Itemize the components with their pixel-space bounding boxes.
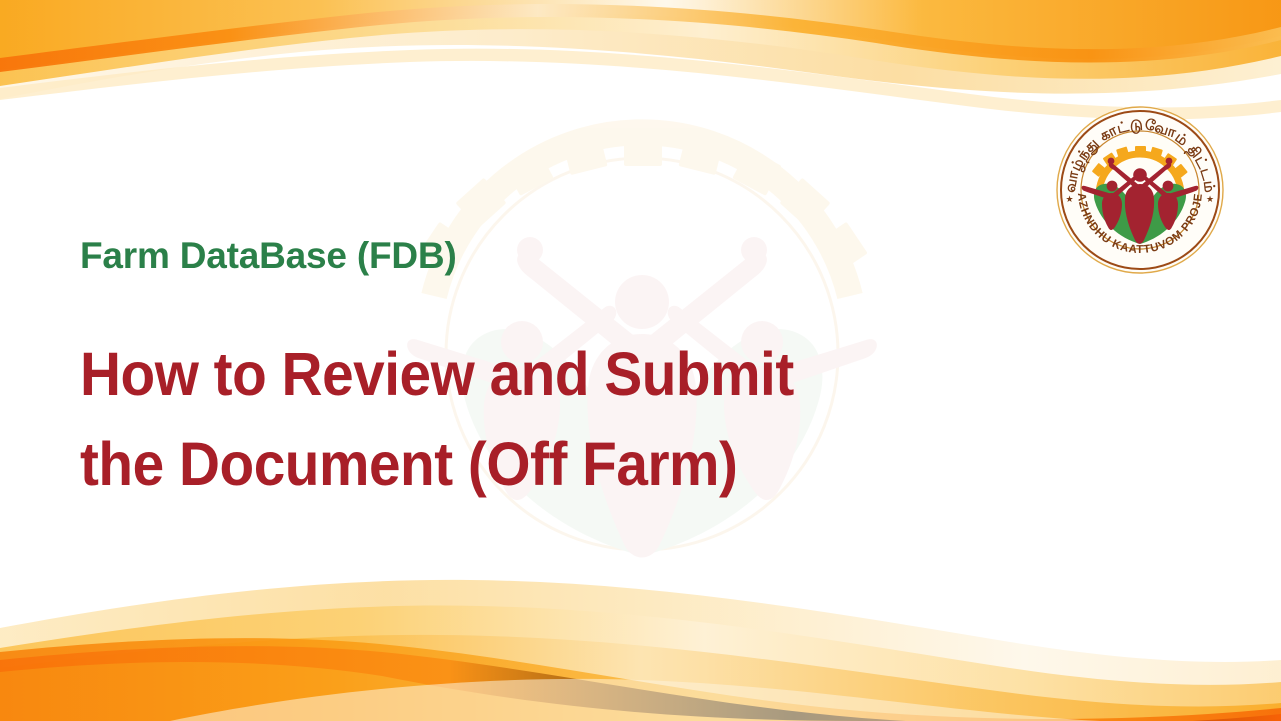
slide-title: How to Review and Submit the Document (O… bbox=[80, 329, 898, 510]
logo-star-right: ★ bbox=[1206, 194, 1214, 204]
logo-star-left: ★ bbox=[1066, 194, 1074, 204]
slide-title-line-1: How to Review and Submit bbox=[80, 329, 898, 419]
title-slide: Farm DataBase (FDB) How to Review and Su… bbox=[0, 0, 1281, 721]
slide-title-line-2: the Document (Off Farm) bbox=[80, 419, 898, 509]
vkp-logo: வாழ்ந்து காட்டுவோம் திட்டம் VAAZHNDHU KA… bbox=[1053, 103, 1227, 277]
slide-subtitle: Farm DataBase (FDB) bbox=[80, 236, 960, 277]
slide-text-block: Farm DataBase (FDB) How to Review and Su… bbox=[80, 236, 960, 509]
bottom-wave-decoration bbox=[0, 556, 1281, 721]
